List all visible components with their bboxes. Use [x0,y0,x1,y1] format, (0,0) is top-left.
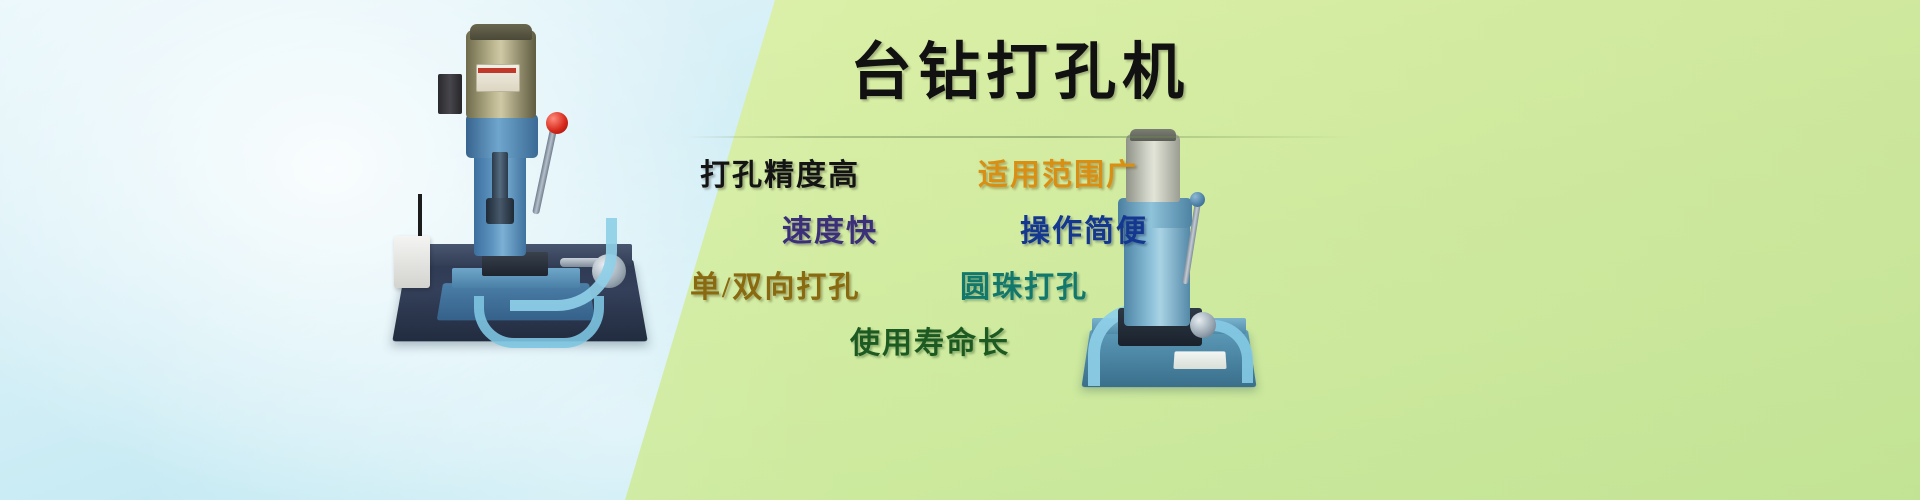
feature-row: 使用寿命长 [660,318,1380,370]
feature-item-range: 适用范围广 [978,150,1138,194]
motor-label-stripe [478,68,516,73]
feature-item-precision: 打孔精度高 [700,150,860,194]
junction-box [438,74,462,114]
lever-knob [546,112,568,134]
product-banner: 台钻打孔机 打孔精度高 适用范围广 速度快 操作简便 单/双向打孔 圆珠打孔 使… [0,0,1920,500]
page-title: 台钻打孔机 [660,42,1380,104]
title-divider [688,136,1352,138]
left-machine-image [378,18,646,368]
feature-item-easy-operation: 操作简便 [1020,206,1148,250]
feature-item-bead-drill: 圆珠打孔 [960,262,1088,306]
feature-row: 打孔精度高 适用范围广 [660,150,1380,202]
feature-item-speed: 速度快 [782,206,878,250]
drill-chuck [486,198,514,224]
feature-row: 速度快 操作简便 [660,206,1380,258]
feature-list: 打孔精度高 适用范围广 速度快 操作简便 单/双向打孔 圆珠打孔 使用寿命长 [660,150,1380,400]
spindle [492,152,508,204]
coolant-hose-lower [474,296,604,348]
feature-item-single-double-drill: 单/双向打孔 [690,262,860,306]
feature-item-long-life: 使用寿命长 [850,318,1010,362]
motor-cap [470,24,532,40]
feature-row: 单/双向打孔 圆珠打孔 [660,262,1380,314]
control-box [394,236,430,288]
banner-content: 台钻打孔机 打孔精度高 适用范围广 速度快 操作简便 单/双向打孔 圆珠打孔 使… [660,0,1380,500]
